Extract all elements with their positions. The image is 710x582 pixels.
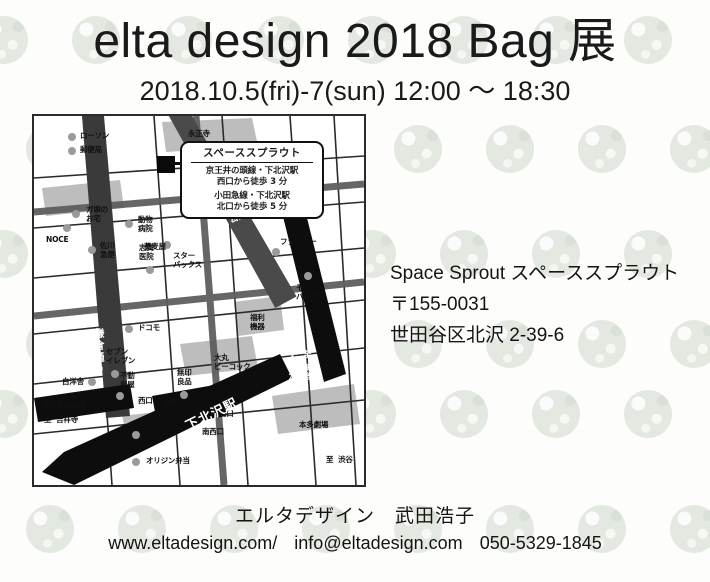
map-poi-dot [180,391,188,399]
map-label-lawson-n: ローソン [80,132,109,141]
map-poi-dot [111,370,119,378]
map-label-post-office: 郵便局 [80,146,102,155]
venue-address: 世田谷区北沢 2-39-6 [390,320,679,351]
banner-odakyu-line: 小田急線 [286,348,298,386]
callout-title: スペーススプラウト [185,147,319,160]
banner-to-shinjuku: 至 新宿 [302,350,313,381]
venue-name: Space Sprout スペーススプラウト [390,258,679,289]
decorative-circle [670,125,710,173]
map-poi-dot [272,248,280,256]
decorative-circle [578,125,626,173]
callout-route1-line1: 京王井の頭線・下北沢駅 [185,166,319,177]
banner-kamakura-dori: 鎌倉通り [90,328,105,376]
map-label-kotobuki: 福利 機器 [250,314,265,331]
phone-number: 050-5329-1845 [480,533,602,553]
venue-postal-code: 〒155-0031 [390,289,679,320]
venue-info: Space Sprout スペーススプラウト 〒155-0031 世田谷区北沢 … [390,258,679,351]
map-label-to-shibuya: 至 渋谷 [326,456,353,465]
decorative-circle [532,390,580,438]
map-label-origin: オリジン弁当 [146,457,190,466]
map-label-muji: 無印 良品 [177,369,192,386]
map-label-to-kichijoji: 至 吉祥寺 [44,416,78,425]
map-label-daimaru: 大丸 ピーコック [214,354,251,371]
footer: エルタデザイン 武田浩子 www.eltadesign.com/ info@el… [0,505,710,555]
decorative-circle [0,390,28,438]
map-label-keio-line: 京王井の頭線 [42,402,86,411]
callout-divider [191,162,313,163]
map-label-eishoji: 永正寺 [188,130,210,139]
decorative-circle [624,390,672,438]
map-label-noce: NOCE [46,236,68,245]
contact-line: www.eltadesign.com/ info@eltadesign.com … [0,531,710,555]
map-poi-dot [116,392,124,400]
map-label-nishiguchi-1: 西口 [138,397,153,406]
decorative-circle [394,125,442,173]
map-label-realestate: 不動 産屋 [120,372,135,389]
email-link[interactable]: info@eltadesign.com [294,533,462,553]
venue-marker [157,156,175,173]
map-poi-dot [72,210,80,218]
map-label-nishiguchi-2: 西口 [165,398,180,407]
map-label-shiga-clinic: 志賀 医院 [139,244,154,261]
map-poi-dot [68,133,76,141]
map-poi-dot [304,272,312,280]
callout-route2-line1: 小田急線・下北沢駅 [185,191,319,202]
callout-route1-line2: 西口から徒歩 3 分 [185,177,319,188]
map-poi-dot [88,378,96,386]
map-label-lawson-s: ローソン [146,430,175,439]
map-poi-dot [132,431,140,439]
map-poi-dot [88,246,96,254]
map-poi-dot [68,147,76,155]
map-label-starbucks: スター バックス [173,252,202,269]
venue-callout: スペーススプラウト 京王井の頭線・下北沢駅 西口から徒歩 3 分 小田急線・下北… [180,141,324,219]
decorative-circle [440,390,488,438]
page-title: elta design 2018 Bag 展 [0,18,710,66]
event-dates: 2018.10.5(fri)-7(sun) 12:00 〜 18:30 [0,78,710,105]
map-poi-dot [125,325,133,333]
map-label-docomo: ドコモ [138,324,160,333]
location-map: 下北沢駅 一番街商店街 鎌倉通り 小田急線 至 新宿 スペーススプラウト 京王井… [32,114,366,487]
decorative-circle [0,230,28,278]
map-label-nanseiguchi: 南西口 [202,428,224,437]
map-poi-dot [146,266,154,274]
map-label-familymart: ファミリー [280,238,317,247]
map-label-brick-house: ガ塀の お宅 [86,206,108,223]
header: elta design 2018 Bag 展 2018.10.5(fri)-7(… [0,0,710,105]
map-label-mos-burger: モス バーガー [296,284,325,301]
map-poi-dot [63,224,71,232]
map-label-sagawa: 佐川 急便 [100,242,115,259]
callout-route2-line2: 北口から徒歩 5 分 [185,202,319,213]
map-label-hakuyosha: 白洋舎 [62,378,84,387]
designer-credit: エルタデザイン 武田浩子 [0,505,710,529]
map-label-animal-hosp: 動物 病院 [138,216,153,233]
map-label-seven: セブン イレブン [106,348,135,365]
map-poi-dot [132,458,140,466]
decorative-circle [486,125,534,173]
map-label-honda-geki: 本多劇場 [299,421,328,430]
map-frame: 下北沢駅 一番街商店街 鎌倉通り 小田急線 至 新宿 スペーススプラウト 京王井… [32,114,366,487]
website-link[interactable]: www.eltadesign.com/ [108,533,277,553]
flyer-canvas: elta design 2018 Bag 展 2018.10.5(fri)-7(… [0,0,710,582]
map-poi-dot [125,220,133,228]
